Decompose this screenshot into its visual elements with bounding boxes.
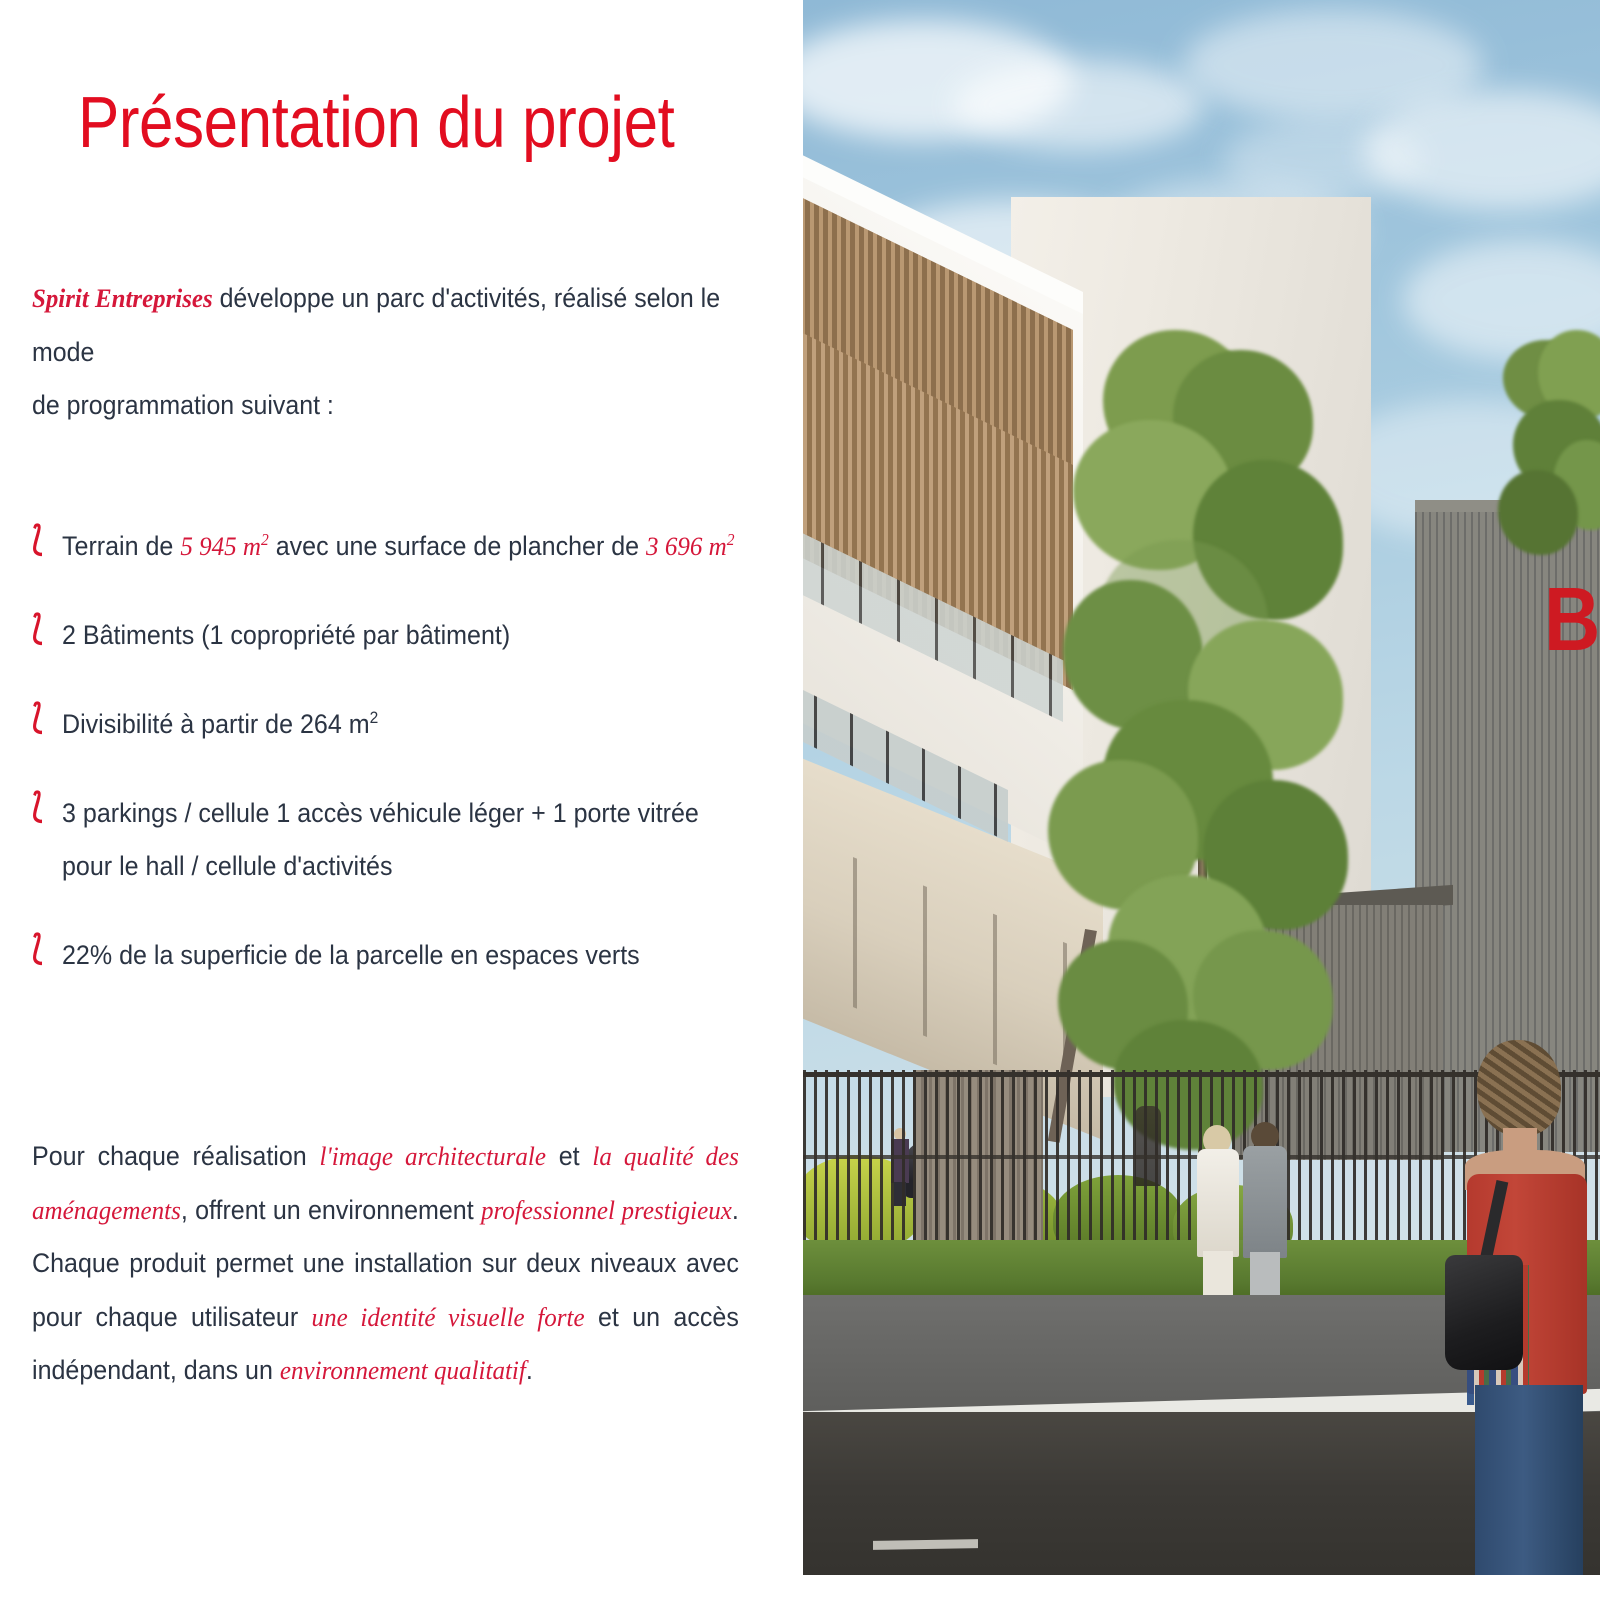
foreground-tree bbox=[1043, 330, 1373, 1190]
cloud bbox=[953, 60, 1203, 150]
bullet3-sup: 2 bbox=[370, 709, 379, 727]
page-title: Présentation du projet bbox=[78, 86, 674, 162]
bullet1-sup-2: 2 bbox=[727, 530, 735, 549]
bullet1-seg1: Terrain de bbox=[62, 531, 180, 561]
background-tree bbox=[1493, 330, 1600, 580]
foliage bbox=[1498, 470, 1578, 555]
braided-hair bbox=[1477, 1040, 1561, 1136]
presentation-slide: Présentation du projet Spirit Entreprise… bbox=[0, 0, 1600, 1600]
crescent-bullet-icon: ⟅ bbox=[32, 609, 56, 646]
pedestrian-man bbox=[1241, 1122, 1289, 1318]
crescent-bullet-icon: ⟅ bbox=[32, 929, 56, 966]
list-item: ⟅ 3 parkings / cellule 1 accès véhicule … bbox=[32, 787, 784, 893]
building-signage-letter: B bbox=[1544, 574, 1600, 664]
closing-seg3: , offrent un environnement bbox=[181, 1195, 481, 1225]
column-divider bbox=[795, 0, 803, 1600]
shoulder-bag bbox=[1445, 1255, 1523, 1370]
crescent-bullet-icon: ⟅ bbox=[32, 520, 56, 557]
closing-paragraph: Pour chaque réalisation l'image architec… bbox=[32, 1130, 739, 1398]
coat bbox=[1197, 1149, 1239, 1257]
bullet-list: ⟅ Terrain de 5 945 m2 avec une surface d… bbox=[32, 520, 784, 982]
bullet-text-4: 3 parkings / cellule 1 accès véhicule lé… bbox=[62, 787, 744, 893]
closing-emphasis-3: professionnel prestigieux bbox=[481, 1195, 732, 1225]
bullet-text-5: 22% de la superficie de la parcelle en e… bbox=[62, 929, 744, 982]
closing-seg6: . bbox=[526, 1355, 533, 1385]
list-item: ⟅ Divisibilité à partir de 264 m2 bbox=[32, 698, 784, 751]
bullet3-prefix: Divisibilité à partir de 264 m bbox=[62, 709, 370, 739]
bullet1-area-plancher: 3 696 m bbox=[646, 531, 727, 561]
list-item: ⟅ 2 Bâtiments (1 copropriété par bâtimen… bbox=[32, 609, 784, 662]
bullet1-sup-1: 2 bbox=[261, 530, 269, 549]
closing-seg1: Pour chaque réalisation bbox=[32, 1141, 319, 1171]
intro-paragraph: Spirit Entreprises développe un parc d'a… bbox=[32, 272, 735, 433]
closing-emphasis-1: l'image architecturale bbox=[319, 1141, 546, 1171]
intro-line2: de programmation suivant : bbox=[32, 390, 334, 420]
crescent-bullet-icon: ⟅ bbox=[32, 787, 56, 824]
cloud bbox=[1223, 120, 1423, 200]
bullet-text-3: Divisibilité à partir de 264 m2 bbox=[62, 698, 744, 751]
bullet-text-1: Terrain de 5 945 m2 avec une surface de … bbox=[62, 520, 744, 573]
list-item: ⟅ 22% de la superficie de la parcelle en… bbox=[32, 929, 784, 982]
pedestrian-woman bbox=[1195, 1125, 1241, 1315]
blue-jeans bbox=[1475, 1385, 1583, 1575]
text-column: Présentation du projet Spirit Entreprise… bbox=[0, 0, 803, 1600]
bullet-text-2: 2 Bâtiments (1 copropriété par bâtiment) bbox=[62, 609, 744, 662]
foreground-woman bbox=[1441, 1040, 1600, 1575]
road-marking-dash bbox=[873, 1539, 978, 1550]
bottom-white-margin bbox=[803, 1575, 1600, 1600]
closing-emphasis-4: une identité visuelle forte bbox=[312, 1302, 585, 1332]
bullet1-area-terrain: 5 945 m bbox=[180, 531, 261, 561]
closing-emphasis-5: environnement qualitatif bbox=[280, 1355, 526, 1385]
brand-name: Spirit Entreprises bbox=[32, 283, 213, 313]
closing-seg2: et bbox=[546, 1141, 592, 1171]
coat bbox=[1243, 1146, 1287, 1258]
bullet1-seg2: avec une surface de plancher de bbox=[269, 531, 646, 561]
architectural-render-image: B bbox=[803, 0, 1600, 1575]
crescent-bullet-icon: ⟅ bbox=[32, 698, 56, 735]
list-item: ⟅ Terrain de 5 945 m2 avec une surface d… bbox=[32, 520, 784, 573]
